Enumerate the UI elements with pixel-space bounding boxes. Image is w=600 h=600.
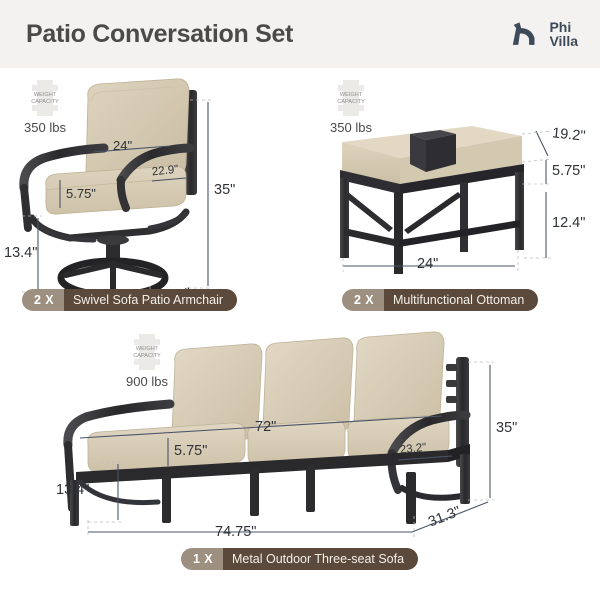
product-label-swivel-armchair[interactable]: 2 X Swivel Sofa Patio Armchair <box>22 289 237 311</box>
product-name: Swivel Sofa Patio Armchair <box>64 289 237 311</box>
dimension-back-width: 24" <box>113 139 132 152</box>
swivel-armchair-dimension-lines <box>0 68 300 320</box>
logo-line-2: Villa <box>549 34 578 48</box>
product-panel-swivel-armchair: WEIGHT CAPACITY 350 lbs <box>0 68 300 320</box>
dimension-seat-width: 72" <box>255 420 276 435</box>
product-label-three-seat-sofa[interactable]: 1 X Metal Outdoor Three-seat Sofa <box>181 548 418 570</box>
dimension-leg-height: 12.4" <box>552 216 585 231</box>
dimension-total-height: 35" <box>496 421 517 436</box>
product-panel-three-seat-sofa: WEIGHT CAPACITY 900 lbs <box>0 320 600 578</box>
product-illustration-swivel-armchair: WEIGHT CAPACITY 350 lbs <box>0 68 300 320</box>
dimension-width: 24" <box>417 257 438 272</box>
page-title: Patio Conversation Set <box>26 22 293 47</box>
product-quantity: 1 X <box>181 548 223 570</box>
dimension-total-height: 35" <box>214 183 235 198</box>
product-quantity: 2 X <box>22 289 64 311</box>
product-name: Metal Outdoor Three-seat Sofa <box>223 548 418 570</box>
product-illustration-three-seat-sofa: WEIGHT CAPACITY 900 lbs <box>0 320 600 578</box>
product-label-ottoman[interactable]: 2 X Multifunctional Ottoman <box>342 289 538 311</box>
product-quantity: 2 X <box>342 289 384 311</box>
dimension-seat-height: 13.4" <box>56 483 89 498</box>
dimension-overall-width: 74.75" <box>215 525 256 540</box>
logo-line-1: Phi <box>549 20 578 34</box>
dimension-cushion-thickness: 5.75" <box>552 164 585 179</box>
brand-logo: Phi Villa <box>510 19 578 49</box>
dimension-cushion-thickness: 5.75" <box>66 187 96 200</box>
ottoman-dimension-lines <box>300 68 600 320</box>
page-header: Patio Conversation Set Phi Villa <box>0 0 600 68</box>
dimension-seat-height: 13.4" <box>4 246 37 261</box>
product-name: Multifunctional Ottoman <box>384 289 538 311</box>
dimension-depth: 19.2" <box>551 126 586 144</box>
brand-logo-text: Phi Villa <box>549 20 578 49</box>
product-panel-ottoman: WEIGHT CAPACITY 350 lbs <box>300 68 600 320</box>
product-illustration-ottoman: WEIGHT CAPACITY 350 lbs <box>300 68 600 320</box>
dimension-cushion-thickness: 5.75" <box>174 444 207 459</box>
phi-villa-chair-mark-icon <box>510 19 544 49</box>
three-seat-sofa-dimension-lines <box>0 320 600 578</box>
